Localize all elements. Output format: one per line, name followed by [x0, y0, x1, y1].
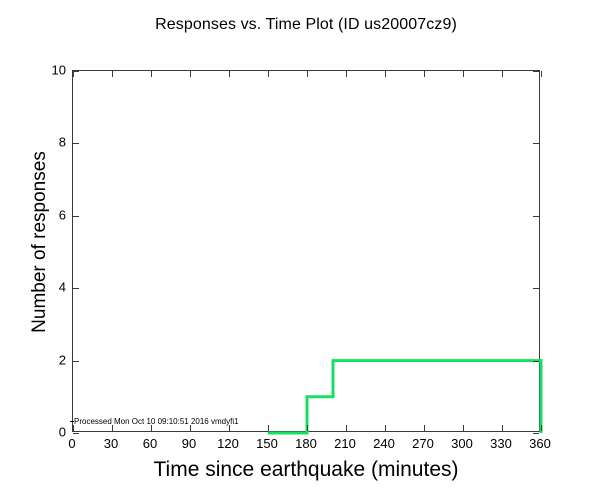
x-tick-label-30: 30 [104, 436, 118, 451]
x-tick-360 [541, 425, 542, 431]
processed-note: Processed Mon Oct 10 09:10:51 2016 vmdyf… [74, 417, 239, 427]
x-tick-label-270: 270 [412, 436, 434, 451]
x-tick-210 [346, 425, 347, 431]
y-tick-8 [533, 143, 539, 144]
x-tick-label-150: 150 [256, 436, 278, 451]
x-tick-label-210: 210 [334, 436, 356, 451]
x-axis-title: Time since earthquake (minutes) [0, 458, 612, 482]
x-tick-label-360: 360 [529, 436, 551, 451]
x-tick-180 [307, 425, 308, 431]
y-tick-10 [73, 71, 79, 72]
y-tick-6 [73, 216, 79, 217]
x-tick-300 [463, 71, 464, 77]
x-tick-360 [541, 71, 542, 77]
cumulative-responses-line [268, 361, 541, 433]
x-tick-120 [229, 71, 230, 77]
x-tick-label-180: 180 [295, 436, 317, 451]
y-tick-0 [533, 433, 539, 434]
x-tick-label-120: 120 [217, 436, 239, 451]
page-title: Responses vs. Time Plot (ID us20007cz9) [0, 16, 612, 34]
y-tick-label-0: 0 [0, 425, 66, 440]
data-series-step-line [73, 71, 541, 433]
y-tick-2 [73, 361, 79, 362]
x-tick-270 [424, 425, 425, 431]
y-tick-4 [73, 288, 79, 289]
x-tick-60 [151, 71, 152, 77]
x-tick-label-330: 330 [490, 436, 512, 451]
y-tick-6 [533, 216, 539, 217]
x-tick-150 [268, 71, 269, 77]
y-tick-8 [73, 143, 79, 144]
x-tick-150 [268, 425, 269, 431]
plot-area [72, 70, 540, 432]
x-tick-210 [346, 71, 347, 77]
x-tick-330 [502, 425, 503, 431]
chart-figure: Responses vs. Time Plot (ID us20007cz9) … [0, 0, 612, 504]
x-tick-30 [112, 71, 113, 77]
x-tick-330 [502, 71, 503, 77]
x-tick-label-240: 240 [373, 436, 395, 451]
x-tick-240 [385, 71, 386, 77]
x-tick-240 [385, 425, 386, 431]
x-tick-label-60: 60 [143, 436, 157, 451]
y-tick-10 [533, 71, 539, 72]
y-tick-0 [73, 433, 79, 434]
x-tick-180 [307, 71, 308, 77]
x-tick-300 [463, 425, 464, 431]
x-tick-label-0: 0 [68, 436, 75, 451]
x-tick-90 [190, 71, 191, 77]
x-tick-label-90: 90 [182, 436, 196, 451]
y-axis-title: Number of responses [29, 62, 51, 422]
x-tick-270 [424, 71, 425, 77]
y-tick-2 [533, 361, 539, 362]
y-tick-4 [533, 288, 539, 289]
x-tick-label-300: 300 [451, 436, 473, 451]
